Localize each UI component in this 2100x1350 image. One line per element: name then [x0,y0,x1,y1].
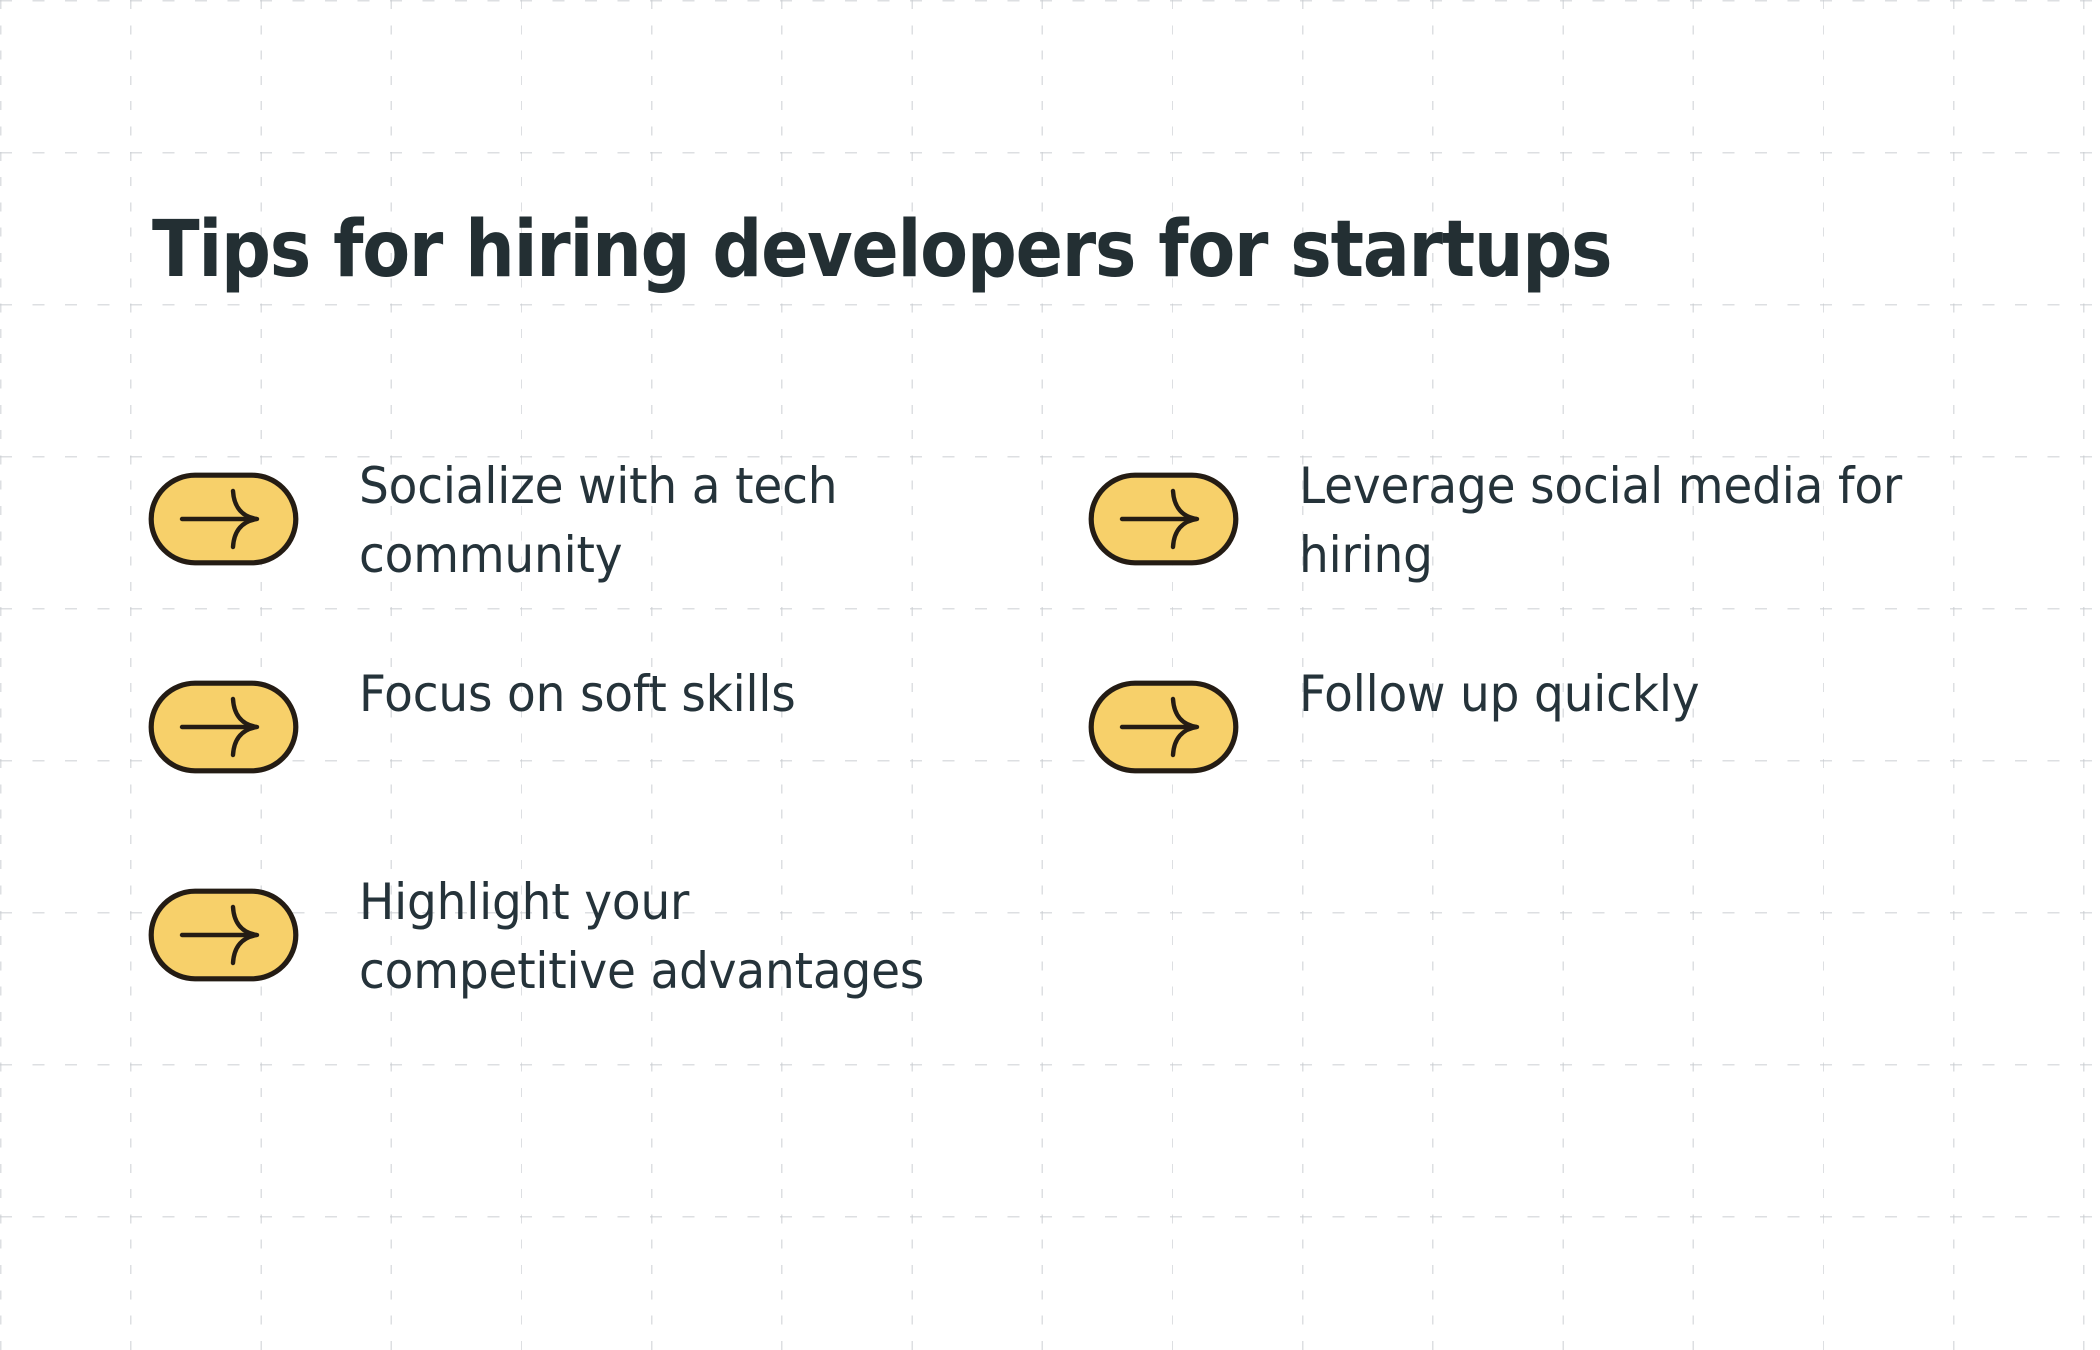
arrow-right-icon [148,888,299,982]
page-title: Tips for hiring developers for startups [152,210,1611,291]
arrow-right-icon [1088,680,1239,774]
list-item-label: Socialize with a tech community [359,452,951,589]
list-item[interactable]: Leverage social media for hiring [1088,452,1968,660]
list-item[interactable]: Socialize with a tech community [148,452,1088,660]
list-item-label: Focus on soft skills [359,660,796,729]
arrow-right-icon [148,472,299,566]
slide-canvas: Tips for hiring developers for startups … [0,0,2100,1350]
list-item[interactable]: Follow up quickly [1088,660,1968,868]
arrow-right-icon [1088,472,1239,566]
arrow-right-icon [148,680,299,774]
list-item[interactable]: Focus on soft skills [148,660,1088,868]
list-item-label: Leverage social media for hiring [1299,452,1919,589]
tips-list: Socialize with a tech community Leverage… [148,452,1968,1076]
list-item-label: Highlight your competitive advantages [359,868,951,1005]
list-item-label: Follow up quickly [1299,660,1699,729]
list-item[interactable]: Highlight your competitive advantages [148,868,1088,1076]
